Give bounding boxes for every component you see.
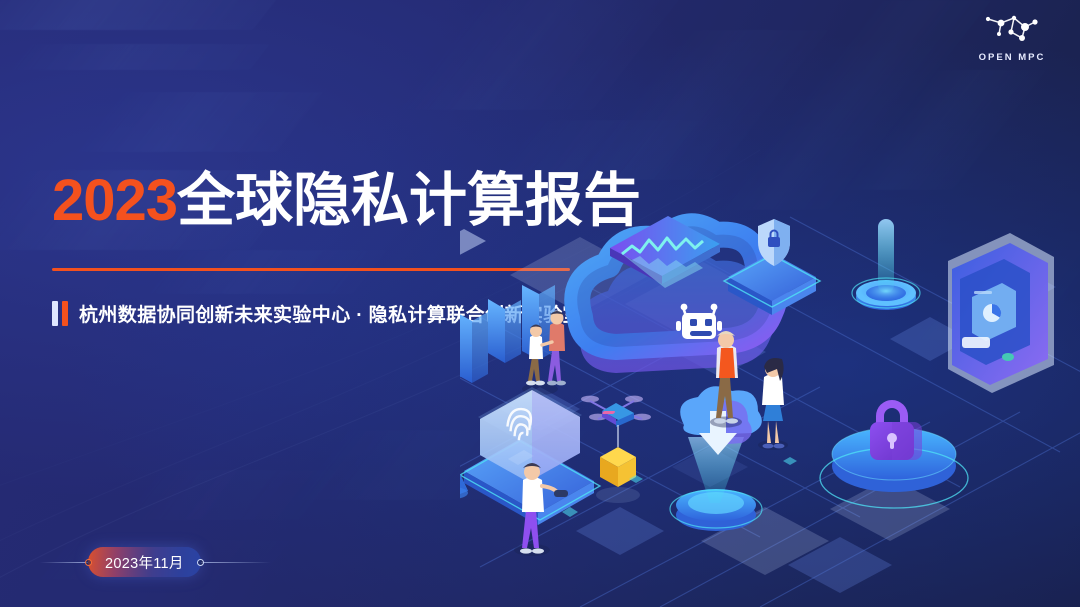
title-year: 2023 — [52, 168, 177, 233]
smartphone-chart — [948, 233, 1054, 393]
report-cover-slide: OPEN MPC 2023全球隐私计算报告 杭州数据协同创新未来实验中心 · 隐… — [0, 0, 1080, 607]
illustration-canvas — [460, 207, 1080, 607]
isometric-illustration — [460, 207, 1080, 607]
date-dot-left-icon — [85, 559, 92, 566]
padlock-pedestal — [820, 400, 968, 508]
light-beam-disc — [852, 219, 920, 310]
lock-icon — [870, 400, 922, 460]
date-badge: 2023年11月 — [40, 547, 290, 577]
date-pill: 2023年11月 — [88, 547, 201, 577]
brand-logo: OPEN MPC — [966, 10, 1058, 63]
date-dot-right-icon — [197, 559, 204, 566]
network-nodes-icon — [981, 10, 1043, 48]
person-blue-skirt — [758, 358, 788, 450]
subtitle-marker-icon — [52, 301, 68, 326]
date-line-right — [201, 562, 271, 563]
bar-chart-3d — [460, 229, 555, 385]
logo-text: OPEN MPC — [966, 52, 1058, 63]
date-label: 2023年11月 — [105, 552, 184, 573]
date-line-left — [40, 562, 88, 563]
gold-cube-package — [600, 447, 636, 487]
